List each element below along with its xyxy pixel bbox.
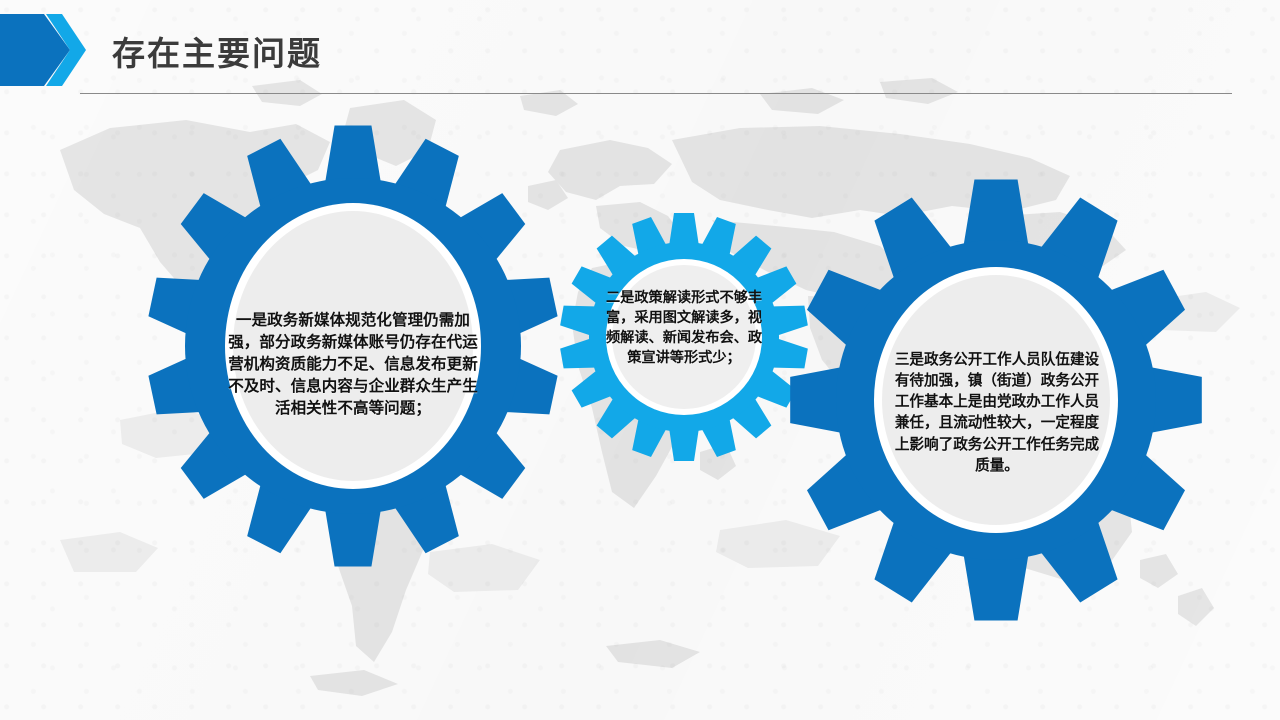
gear-2-text: 二是政策解读形式不够丰富，采用图文解读多，视频解读、新闻发布会、政策宣讲等形式少… xyxy=(601,288,767,369)
gear-3-text: 三是政务公开工作人员队伍建设有待加强，镇（街道）政务公开工作基本上是由党政办工作… xyxy=(889,350,1105,477)
slide-canvas: 存在主要问题 一是政务新 xyxy=(0,0,1280,720)
gear-1-text: 一是政务新媒体规范化管理仍需加强，部分政务新媒体账号仍存在代运营机构资质能力不足… xyxy=(228,310,478,420)
